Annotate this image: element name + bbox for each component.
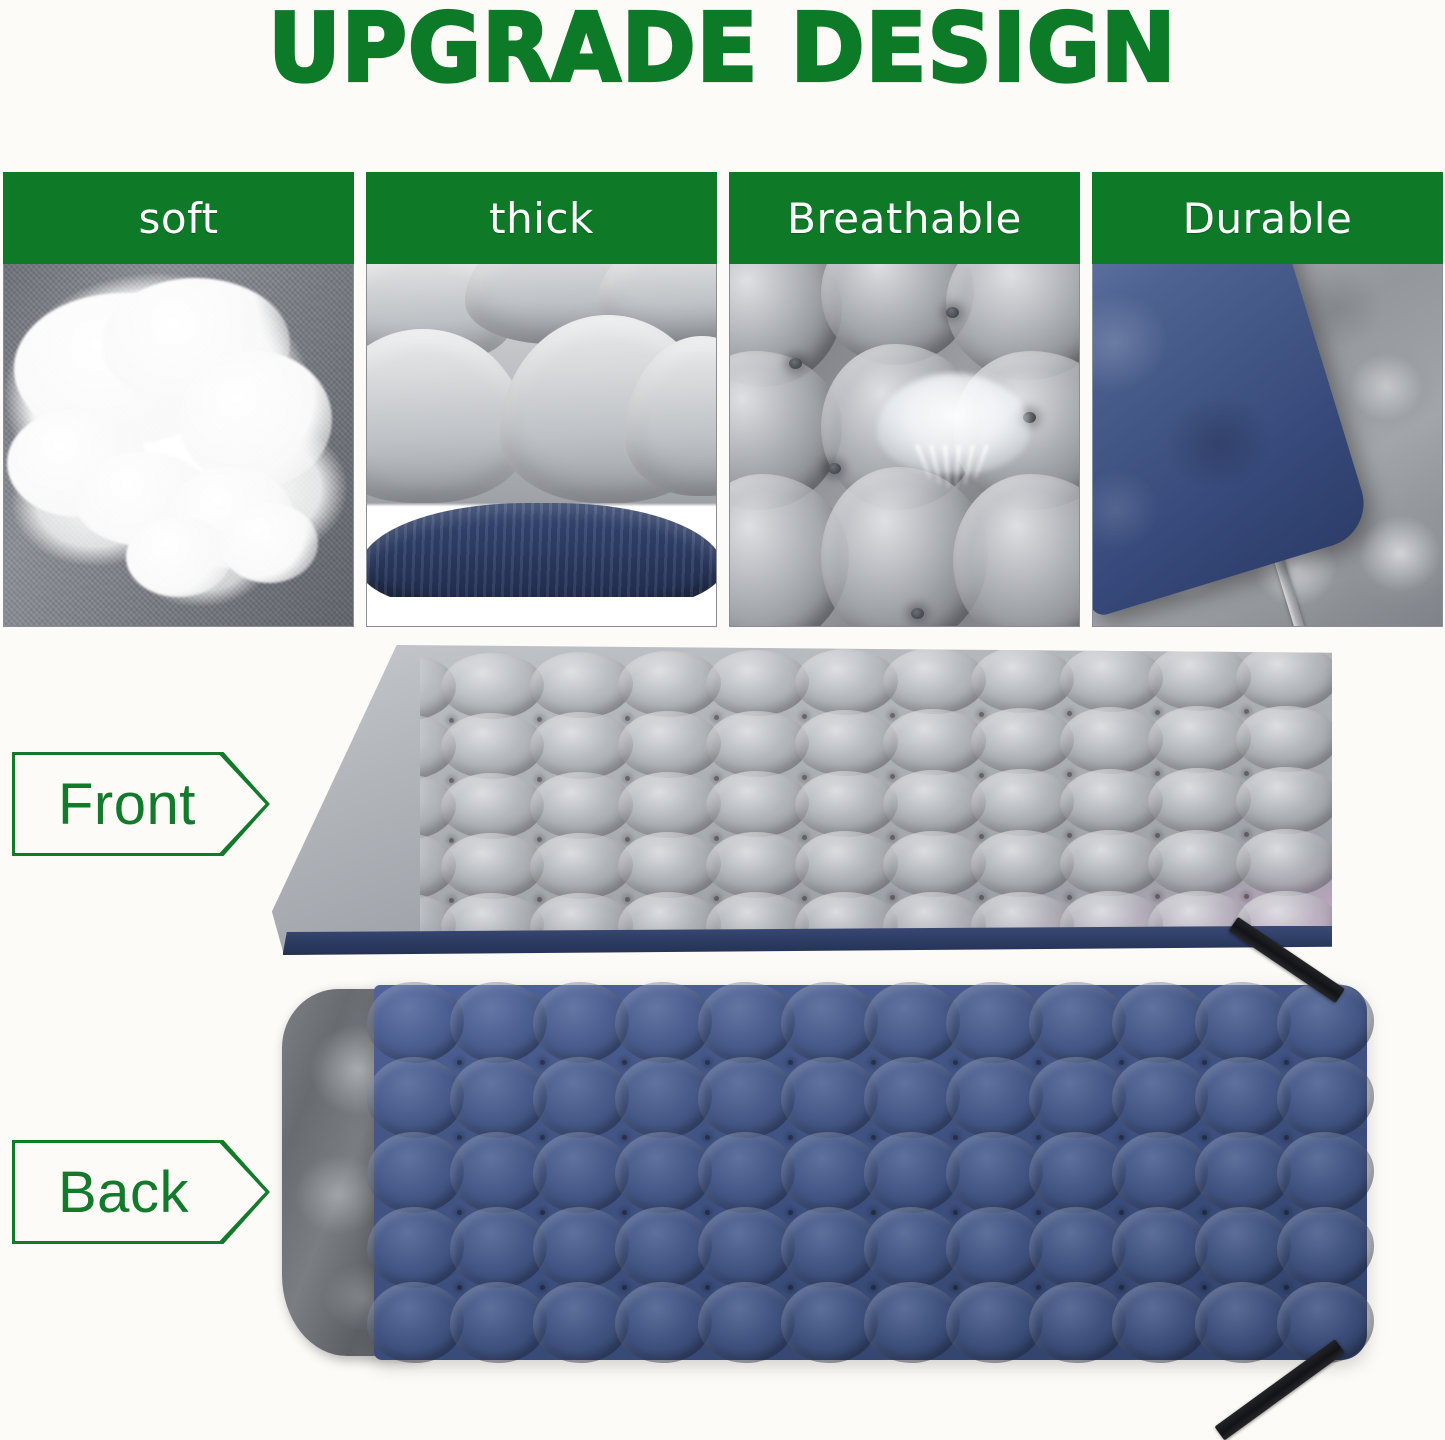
tuft-cell	[1029, 1282, 1126, 1362]
tuft-cell	[706, 832, 809, 898]
tuft-cell	[706, 771, 809, 837]
tuft-cell	[367, 1057, 464, 1137]
tuft-cell	[1277, 1207, 1374, 1287]
tuft-knot	[714, 896, 719, 901]
tuft-knot	[625, 837, 630, 842]
tuft-cell	[450, 1057, 547, 1137]
back-label-badge: Back	[12, 1140, 270, 1244]
tuft-cell	[781, 1132, 878, 1212]
tuft-cell	[946, 1282, 1043, 1362]
tuft-cell	[971, 830, 1074, 896]
tuft-knot	[457, 1135, 462, 1140]
tuft-cell	[1148, 830, 1251, 896]
tuft-knot	[1202, 1135, 1207, 1140]
tuft-cell	[1195, 1057, 1292, 1137]
tuft-cell	[1148, 645, 1251, 711]
tuft-cell	[533, 1132, 630, 1212]
tuft-cell	[367, 1132, 464, 1212]
back-pad-surface	[374, 985, 1367, 1360]
tuft-knot	[1119, 1210, 1124, 1215]
tuft-cell	[698, 1207, 795, 1287]
tuft-cell	[367, 1282, 464, 1362]
tuft-knot	[449, 778, 454, 783]
tuft-knot	[871, 1060, 876, 1065]
tuft-knot	[871, 1210, 876, 1215]
tuft-knot	[1202, 1060, 1207, 1065]
tuft-cell	[1112, 982, 1209, 1062]
tuft-knot	[537, 777, 542, 782]
tuft-knot	[1067, 833, 1072, 838]
tuft-cell	[781, 982, 878, 1062]
tuft-knot	[953, 1060, 958, 1065]
tuft-cell	[1277, 1132, 1374, 1212]
tuft-knot	[705, 1285, 710, 1290]
tuft-knot	[537, 897, 542, 902]
tuft-knot	[1284, 1060, 1289, 1065]
tuft-cell	[1060, 830, 1163, 896]
tuft-cell	[883, 709, 986, 775]
tuft-knot	[788, 1210, 793, 1215]
tuft-cell	[1112, 1132, 1209, 1212]
tuft-cell	[971, 708, 1074, 774]
front-label-badge: Front	[12, 752, 270, 856]
tuft-knot	[1155, 894, 1160, 899]
tuft-cell	[533, 1207, 630, 1287]
tuft-knot	[1067, 711, 1072, 716]
tuft-cell	[441, 713, 544, 779]
tuft-cell	[698, 982, 795, 1062]
tuft-knot	[714, 836, 719, 841]
tuft-knot	[871, 1135, 876, 1140]
tuft-cell	[883, 648, 986, 714]
corner-strap-bottom	[1215, 1339, 1345, 1440]
tuft-cell	[946, 1132, 1043, 1212]
tuft-cell	[1236, 644, 1339, 710]
tuft-cell	[530, 772, 633, 838]
tuft-knot	[890, 895, 895, 900]
tuft-cell	[795, 649, 898, 715]
tuft-knot	[714, 715, 719, 720]
tuft-knot	[1036, 1060, 1041, 1065]
tuft-knot	[714, 776, 719, 781]
tuft-cell	[971, 647, 1074, 713]
tuft-cell	[1195, 1132, 1292, 1212]
tuft-knot	[1119, 1285, 1124, 1290]
tuft-cell	[946, 1057, 1043, 1137]
tuft-knot	[457, 1285, 462, 1290]
tuft-knot	[1202, 1210, 1207, 1215]
tuft-knot	[622, 1285, 627, 1290]
tuft-cell	[1029, 1207, 1126, 1287]
tuft-knot	[705, 1135, 710, 1140]
back-tufting-pattern	[374, 985, 1367, 1360]
tuft-knot	[449, 718, 454, 723]
tuft-knot	[1284, 1210, 1289, 1215]
tuft-knot	[1119, 1135, 1124, 1140]
tuft-cell	[1029, 982, 1126, 1062]
tuft-knot	[1202, 1285, 1207, 1290]
tuft-knot	[802, 835, 807, 840]
tuft-knot	[979, 773, 984, 778]
tuft-knot	[1244, 771, 1249, 776]
tuft-cell	[533, 1057, 630, 1137]
tuft-cell	[1236, 829, 1339, 895]
tuft-cell	[795, 710, 898, 776]
tuft-knot	[457, 1210, 462, 1215]
tuft-cell	[441, 773, 544, 839]
front-label-text: Front	[58, 771, 196, 838]
tuft-knot	[449, 838, 454, 843]
tuft-knot	[802, 775, 807, 780]
feature-label-soft: soft	[3, 172, 354, 264]
tuft-cell	[781, 1057, 878, 1137]
durability-photo	[1092, 264, 1443, 627]
tuft-knot	[953, 1210, 958, 1215]
breathability-photo	[729, 264, 1080, 627]
tuft-cell	[450, 982, 547, 1062]
front-pad-surface	[272, 645, 1332, 955]
tuft-cell	[1148, 768, 1251, 834]
tuft-cell	[1195, 982, 1292, 1062]
tuft-knot	[788, 1285, 793, 1290]
tuft-knot	[1244, 894, 1249, 899]
tuft-cell	[450, 1132, 547, 1212]
tuft-knot	[705, 1210, 710, 1215]
tuft-cell	[864, 1057, 961, 1137]
tuft-cell	[946, 1207, 1043, 1287]
tuft-cell	[1060, 707, 1163, 773]
feature-cell-durable: Durable	[1092, 172, 1443, 627]
tuft-cell	[618, 711, 721, 777]
tuft-cell	[1112, 1057, 1209, 1137]
tuft-knot	[1155, 771, 1160, 776]
tuft-cell	[615, 1282, 712, 1362]
tuft-cell	[367, 982, 464, 1062]
feature-cell-thick: thick	[366, 172, 717, 627]
front-tufting-pattern	[272, 645, 1332, 955]
tuft-cell	[533, 982, 630, 1062]
tuft-cell	[795, 831, 898, 897]
tuft-cell	[864, 1207, 961, 1287]
back-view	[282, 985, 1367, 1360]
feature-grid: soft thick Breathable	[3, 172, 1443, 627]
tuft-cell	[781, 1282, 878, 1362]
tuft-cell	[1236, 706, 1339, 772]
feature-label-thick: thick	[366, 172, 717, 264]
tuft-knot	[705, 1060, 710, 1065]
tuft-cell	[883, 831, 986, 897]
tuft-cell	[1236, 767, 1339, 833]
tuft-cell	[530, 652, 633, 718]
tuft-cell	[1148, 706, 1251, 772]
fiber-fill-photo	[3, 264, 354, 627]
tuft-cell	[1112, 1282, 1209, 1362]
tuft-knot	[537, 837, 542, 842]
tuft-cell	[946, 982, 1043, 1062]
tuft-knot	[625, 716, 630, 721]
tuft-knot	[979, 712, 984, 717]
tuft-cell	[971, 769, 1074, 835]
tuft-cell	[1195, 1282, 1292, 1362]
tuft-cell	[1029, 1132, 1126, 1212]
tuft-knot	[1036, 1135, 1041, 1140]
feature-label-breathable: Breathable	[729, 172, 1080, 264]
tuft-cell	[781, 1207, 878, 1287]
tuft-knot	[788, 1060, 793, 1065]
tuft-knot	[457, 1060, 462, 1065]
tuft-cell	[1112, 1207, 1209, 1287]
tuft-cell	[864, 1132, 961, 1212]
tuft-knot	[625, 776, 630, 781]
tuft-cell	[450, 1207, 547, 1287]
tuft-knot	[979, 834, 984, 839]
tuft-knot	[1284, 1285, 1289, 1290]
tuft-cell	[1029, 1057, 1126, 1137]
tuft-cell	[864, 982, 961, 1062]
tuft-knot	[537, 717, 542, 722]
tuft-knot	[1244, 709, 1249, 714]
tuft-knot	[802, 714, 807, 719]
tuft-knot	[449, 898, 454, 903]
tuft-knot	[953, 1135, 958, 1140]
tuft-cell	[441, 653, 544, 719]
feature-label-durable: Durable	[1092, 172, 1443, 264]
tuft-knot	[540, 1285, 545, 1290]
tuft-knot	[1155, 833, 1160, 838]
feature-cell-soft: soft	[3, 172, 354, 627]
tuft-knot	[788, 1135, 793, 1140]
tuft-cell	[1236, 891, 1339, 957]
loft-thickness-photo	[366, 264, 717, 627]
headline-banner: UPGRADE DESIGN	[0, 0, 1445, 95]
tuft-knot	[1067, 895, 1072, 900]
page-title: UPGRADE DESIGN	[268, 0, 1176, 94]
tuft-cell	[615, 1207, 712, 1287]
tuft-cell	[1060, 769, 1163, 835]
tuft-cell	[706, 711, 809, 777]
tuft-knot	[890, 835, 895, 840]
tuft-knot	[540, 1210, 545, 1215]
tuft-cell	[864, 1282, 961, 1362]
tuft-knot	[622, 1060, 627, 1065]
tuft-knot	[1244, 832, 1249, 837]
tuft-cell	[615, 1132, 712, 1212]
tuft-knot	[1036, 1210, 1041, 1215]
navy-side-band	[366, 503, 717, 612]
tuft-knot	[1155, 710, 1160, 715]
tuft-cell	[1277, 1057, 1374, 1137]
tuft-knot	[890, 713, 895, 718]
tuft-knot	[625, 897, 630, 902]
tuft-cell	[450, 1282, 547, 1362]
tuft-cell	[698, 1057, 795, 1137]
tuft-cell	[265, 655, 368, 721]
tuft-knot	[1119, 1060, 1124, 1065]
tuft-knot	[540, 1135, 545, 1140]
tuft-cell	[618, 772, 721, 838]
back-label-text: Back	[58, 1159, 189, 1226]
tuft-cell	[795, 771, 898, 837]
tuft-cell	[1195, 1207, 1292, 1287]
tuft-knot	[1067, 772, 1072, 777]
tuft-knot	[1036, 1285, 1041, 1290]
tuft-cell	[441, 833, 544, 899]
tuft-knot	[1284, 1135, 1289, 1140]
tuft-cell	[533, 1282, 630, 1362]
tuft-cell	[530, 833, 633, 899]
tuft-knot	[871, 1285, 876, 1290]
tuft-knot	[802, 896, 807, 901]
tuft-cell	[698, 1132, 795, 1212]
tuft-knot	[890, 774, 895, 779]
tuft-knot	[622, 1135, 627, 1140]
tuft-cell	[615, 1057, 712, 1137]
front-view	[272, 645, 1332, 955]
tuft-knot	[540, 1060, 545, 1065]
feature-cell-breathable: Breathable	[729, 172, 1080, 627]
tuft-knot	[979, 895, 984, 900]
tuft-knot	[953, 1285, 958, 1290]
tuft-knot	[622, 1210, 627, 1215]
tuft-cell	[530, 712, 633, 778]
tuft-cell	[1060, 646, 1163, 712]
tuft-cell	[706, 650, 809, 716]
tuft-cell	[618, 832, 721, 898]
tuft-cell	[618, 651, 721, 717]
tuft-cell	[615, 982, 712, 1062]
tuft-cell	[883, 770, 986, 836]
tuft-cell	[698, 1282, 795, 1362]
tuft-cell	[367, 1207, 464, 1287]
front-pad-side-face	[272, 645, 420, 955]
